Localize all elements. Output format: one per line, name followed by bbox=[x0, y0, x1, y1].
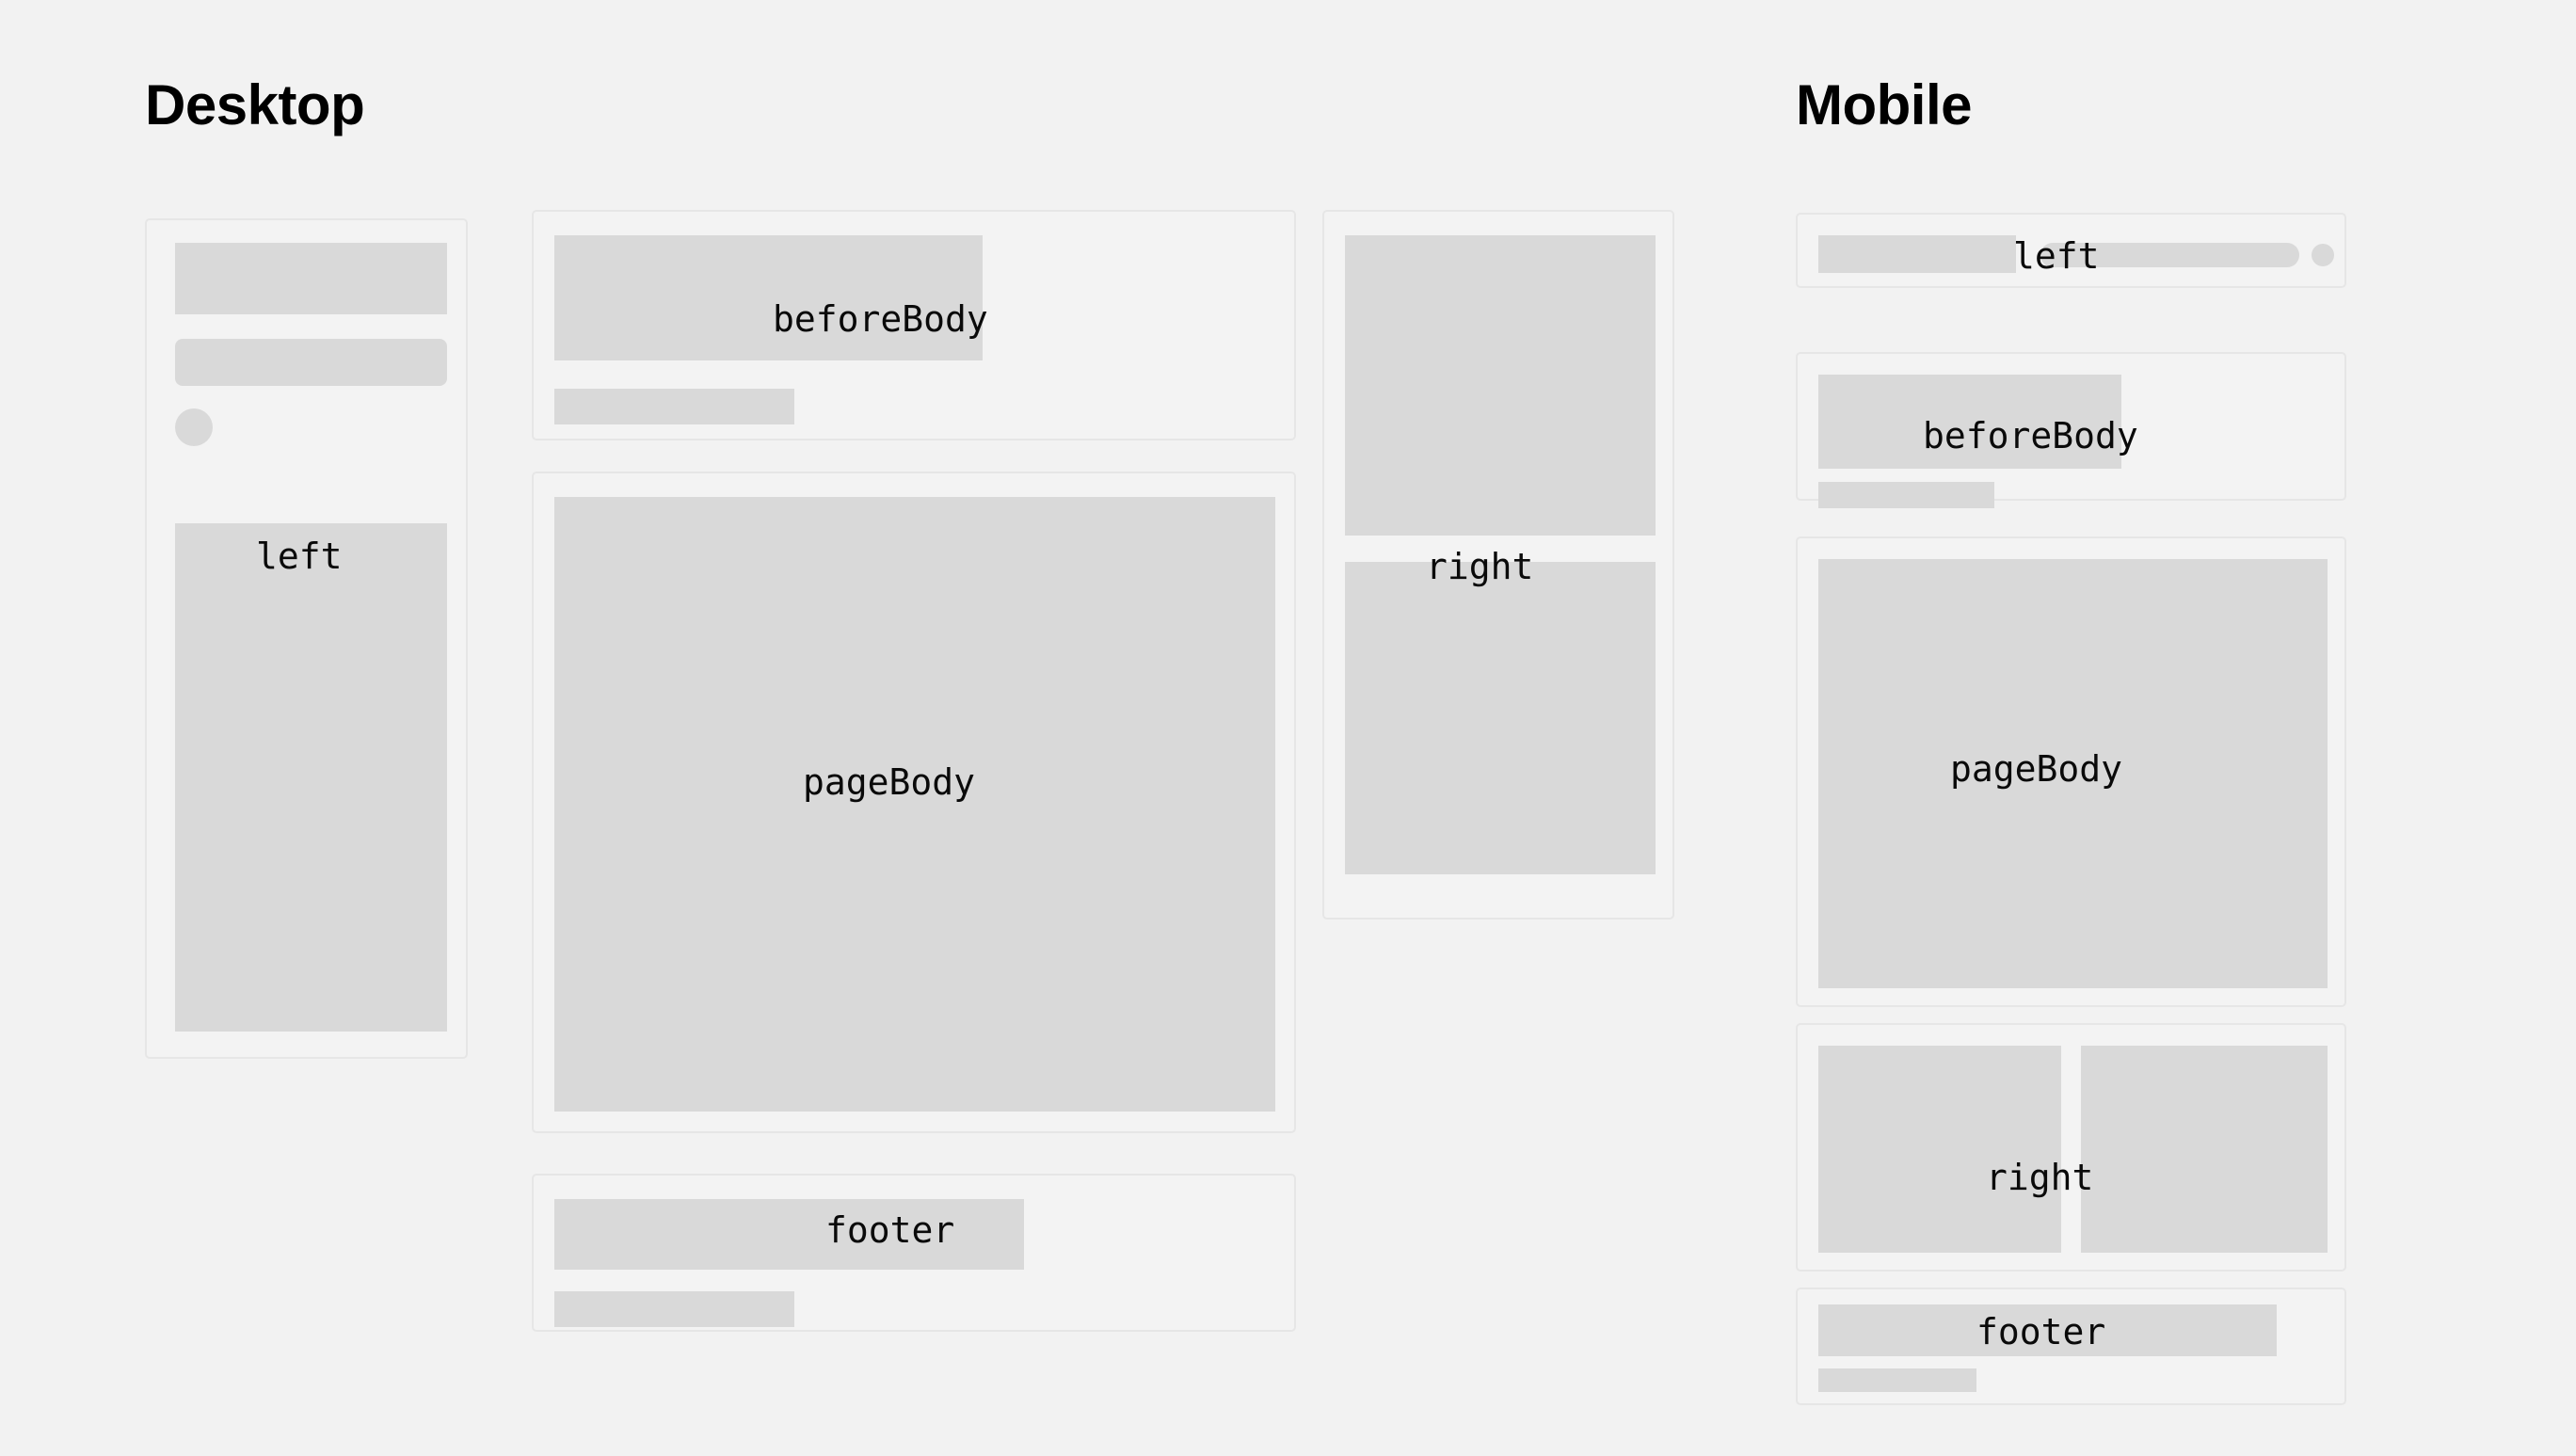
placeholder-block bbox=[1818, 235, 2016, 273]
desktop-right-panel[interactable] bbox=[1322, 210, 1674, 920]
desktop-footer-panel[interactable] bbox=[532, 1174, 1296, 1332]
placeholder-block-bottom bbox=[1345, 562, 1656, 874]
mobile-section-heading: Mobile bbox=[1796, 77, 1972, 134]
placeholder-bar bbox=[554, 389, 794, 424]
placeholder-avatar-circle bbox=[175, 408, 213, 446]
placeholder-block bbox=[554, 1199, 1024, 1270]
placeholder-bar bbox=[1818, 1368, 1976, 1392]
placeholder-block bbox=[1818, 375, 2121, 469]
placeholder-block-top bbox=[1345, 235, 1656, 536]
placeholder-block-large bbox=[554, 497, 1275, 1112]
placeholder-block bbox=[1818, 1304, 2277, 1356]
mobile-left-panel[interactable] bbox=[1796, 213, 2346, 288]
mobile-footer-panel[interactable] bbox=[1796, 1288, 2346, 1405]
mobile-before-body-panel[interactable] bbox=[1796, 352, 2346, 501]
desktop-section-heading: Desktop bbox=[145, 77, 364, 134]
desktop-page-body-panel[interactable] bbox=[532, 472, 1296, 1133]
mobile-right-panel[interactable] bbox=[1796, 1023, 2346, 1272]
placeholder-bar bbox=[1818, 482, 1994, 508]
desktop-before-body-panel[interactable] bbox=[532, 210, 1296, 440]
placeholder-bar bbox=[175, 339, 447, 386]
placeholder-block-large bbox=[1818, 559, 2328, 988]
wireframe-stage: Desktop left beforeBody pageBody footer … bbox=[0, 0, 2576, 1456]
placeholder-block bbox=[175, 243, 447, 314]
placeholder-pill bbox=[2040, 243, 2299, 267]
placeholder-block-tall bbox=[175, 523, 447, 1032]
placeholder-avatar-circle bbox=[2312, 244, 2334, 266]
placeholder-block-left bbox=[1818, 1046, 2061, 1253]
mobile-page-body-panel[interactable] bbox=[1796, 536, 2346, 1007]
desktop-left-panel[interactable] bbox=[145, 218, 468, 1059]
placeholder-block-right bbox=[2081, 1046, 2328, 1253]
placeholder-block bbox=[554, 235, 983, 360]
placeholder-bar bbox=[554, 1291, 794, 1327]
